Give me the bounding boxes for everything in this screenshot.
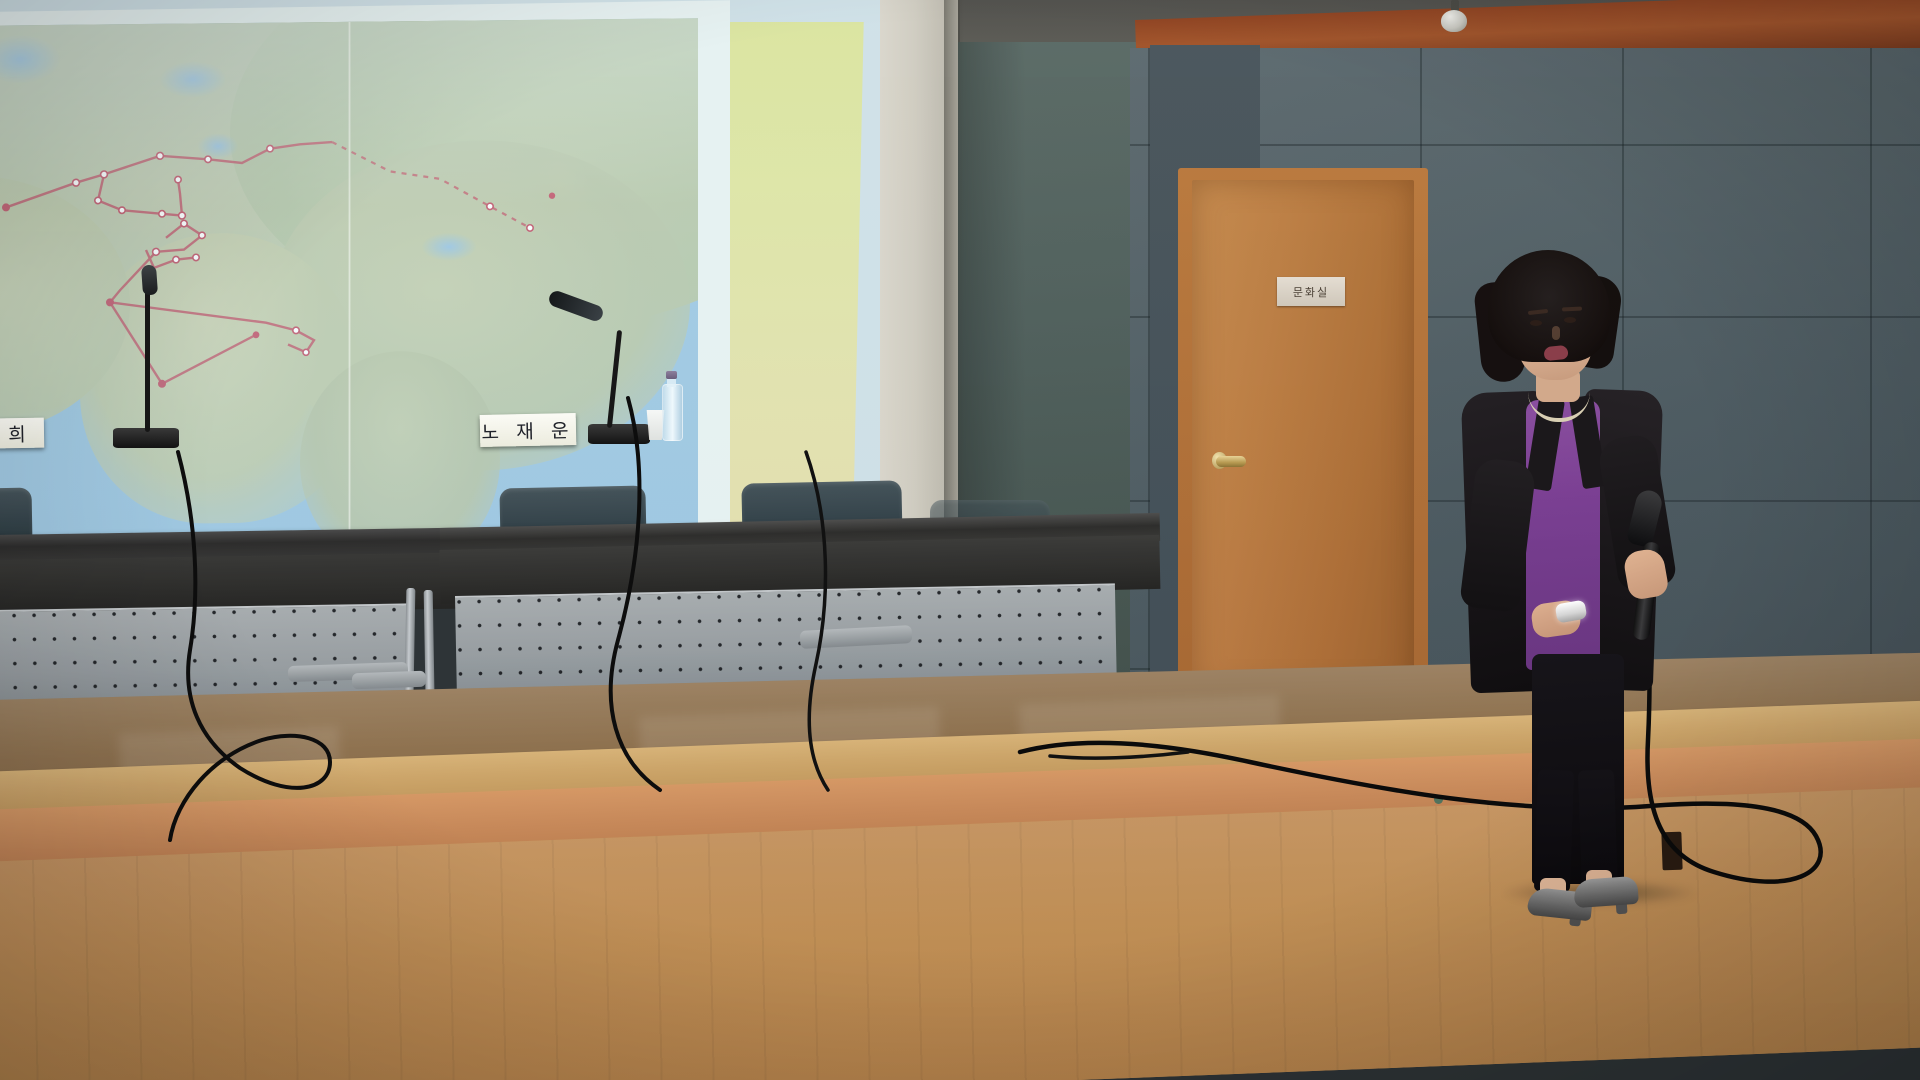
presenter-shoe-right — [1573, 876, 1639, 908]
door[interactable] — [1192, 180, 1414, 692]
microphone-head-left — [141, 265, 158, 296]
presenter-hair — [1488, 250, 1610, 362]
presenter — [1440, 250, 1720, 830]
microphone-stem-left — [145, 290, 150, 432]
water-bottle-body — [662, 384, 683, 441]
lecture-hall-photo: 문화실 — [0, 0, 1920, 1080]
presenter-eye-left — [1530, 320, 1542, 326]
table-foot — [352, 671, 427, 690]
nameplate-center: 노 재 운 — [480, 413, 577, 447]
ceiling-spotlight-icon — [1437, 0, 1471, 36]
nameplate-left: 희 — [0, 418, 44, 449]
microphone-base-right — [588, 424, 650, 444]
door-handle-icon[interactable] — [1216, 456, 1246, 467]
projected-map — [0, 18, 698, 554]
presenter-eye-right — [1564, 317, 1576, 323]
presenter-leg-left — [1534, 769, 1574, 892]
door-sign: 문화실 — [1277, 277, 1345, 306]
stage-floor-outlet — [1661, 832, 1682, 871]
water-bottle-cap — [666, 371, 677, 379]
presenter-nose — [1552, 326, 1560, 340]
water-bottle-neck — [667, 378, 676, 387]
